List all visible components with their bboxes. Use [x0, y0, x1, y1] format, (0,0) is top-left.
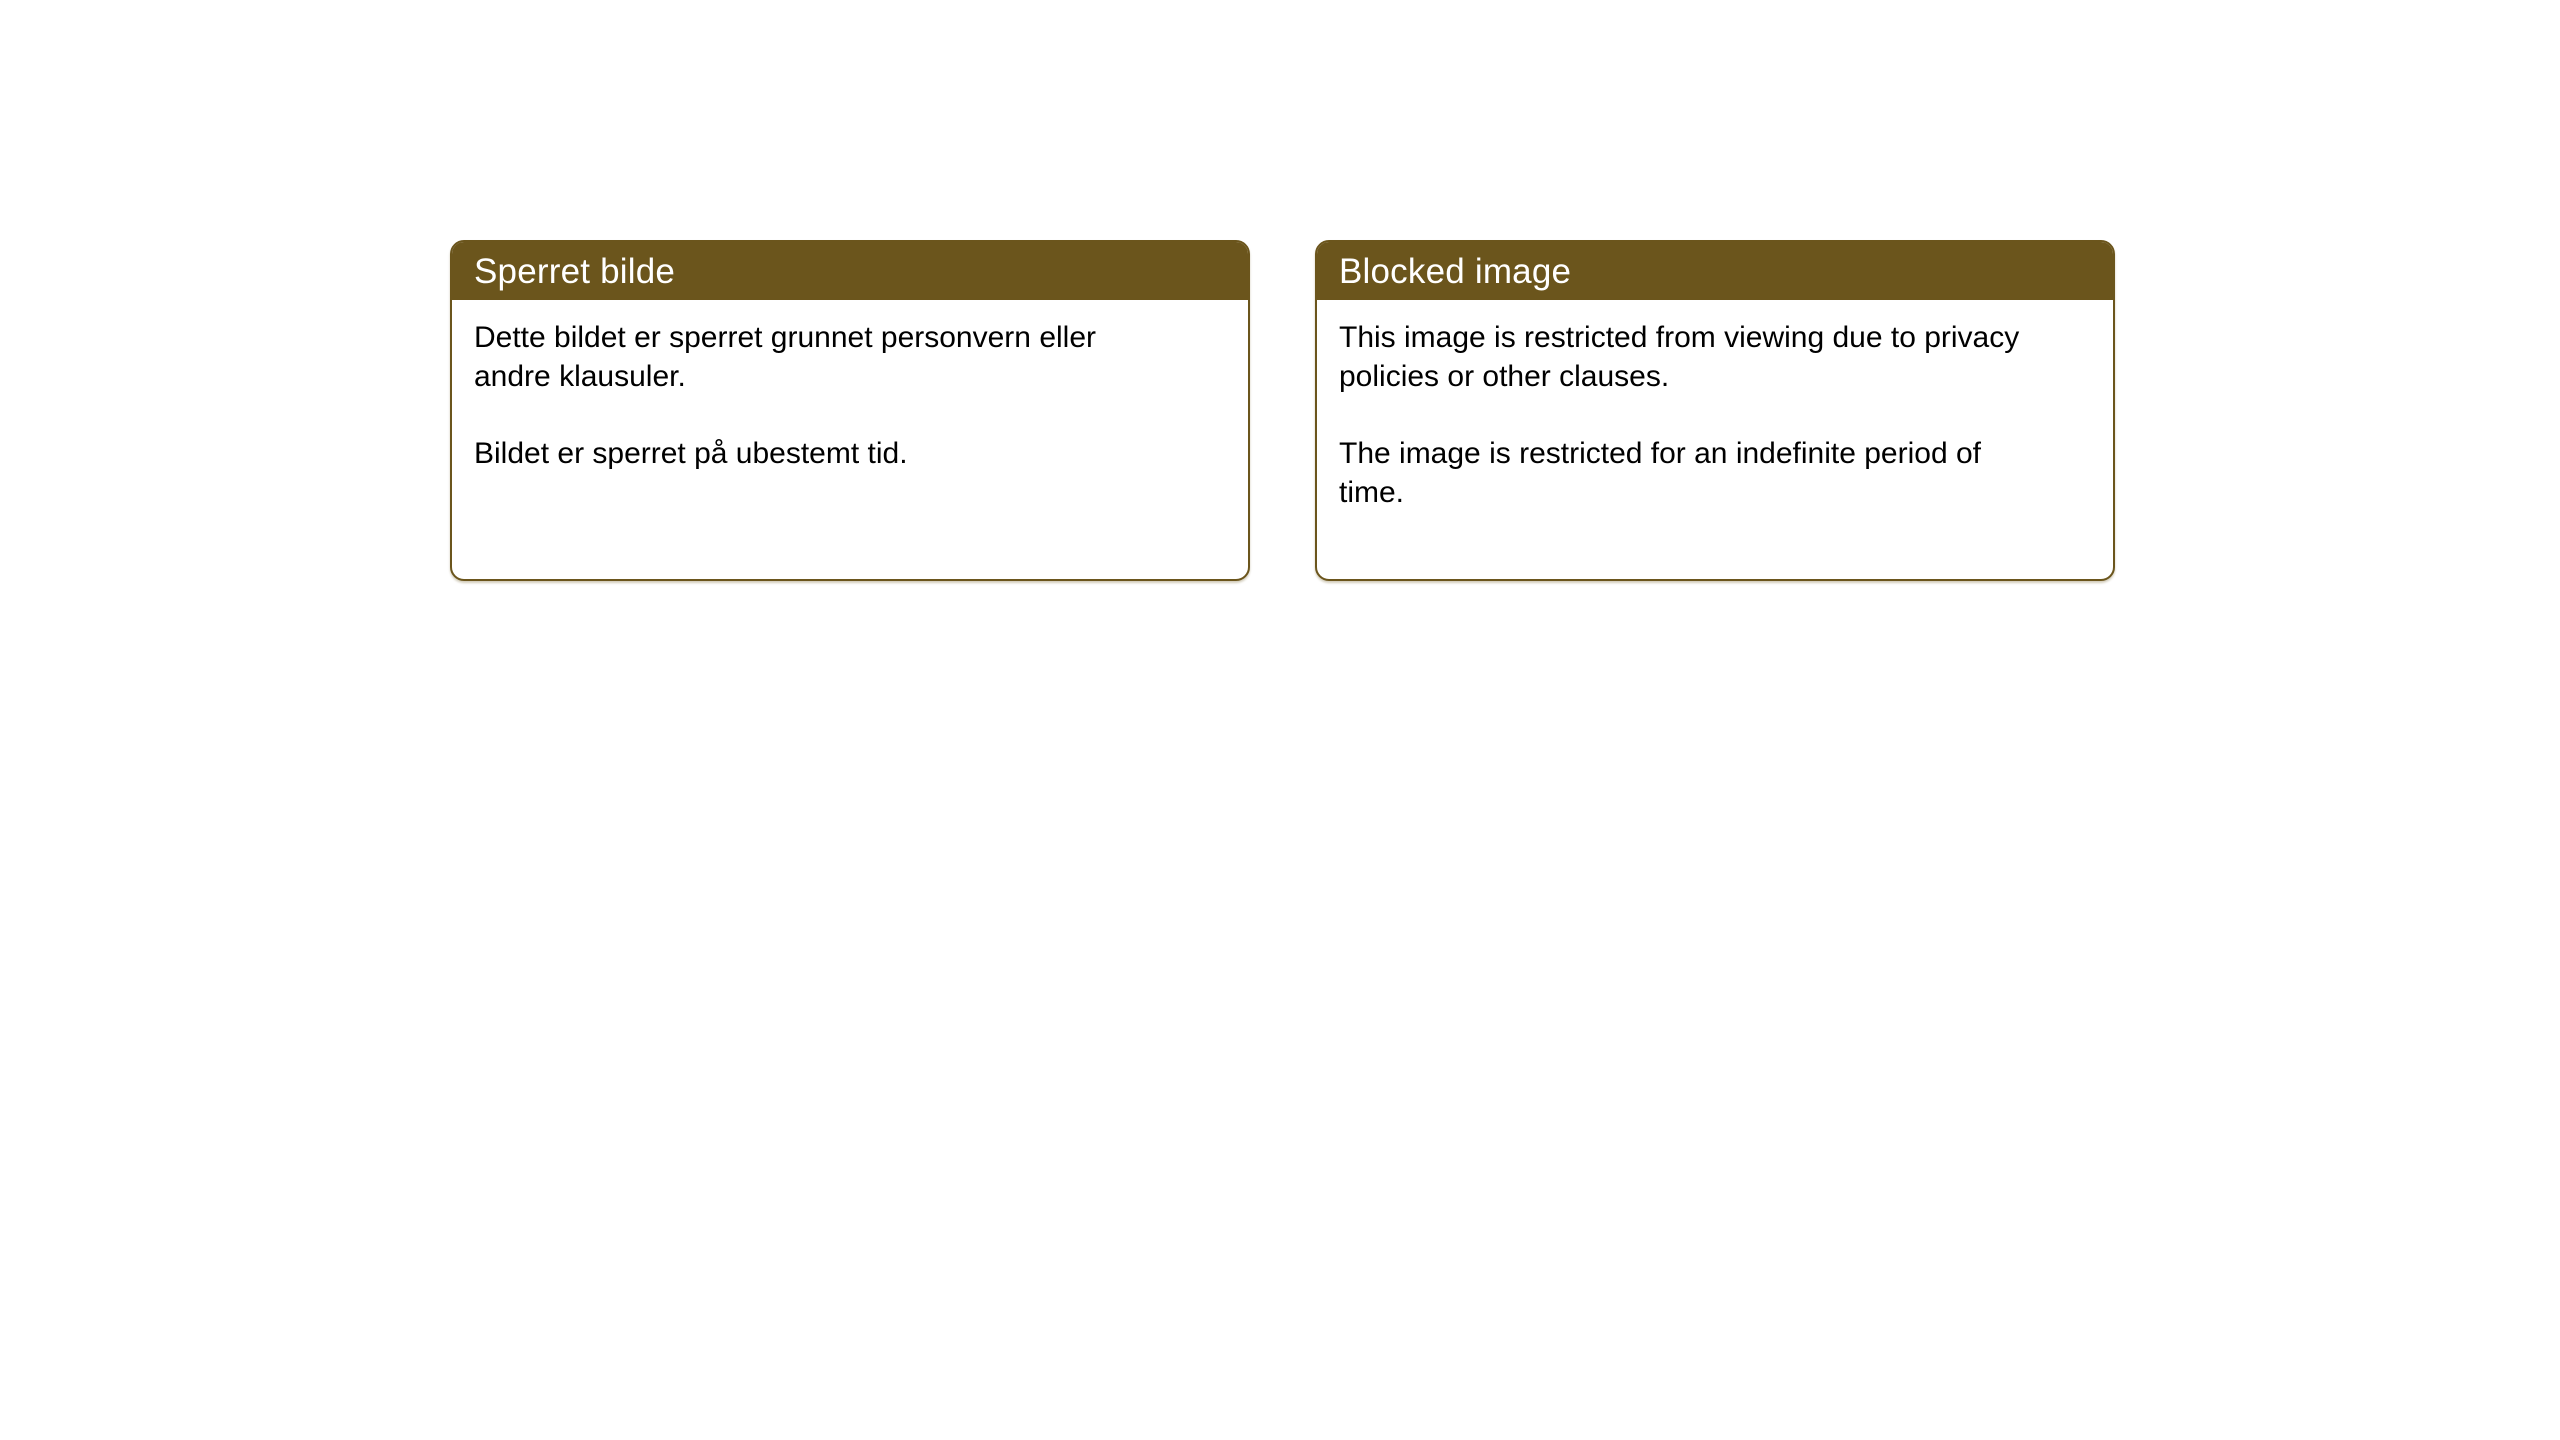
card-body-norwegian: Dette bildet er sperret grunnet personve…	[452, 300, 1248, 473]
card-title-english: Blocked image	[1339, 254, 1571, 289]
card-title-norwegian: Sperret bilde	[474, 254, 675, 289]
page-root: Sperret bilde Dette bildet er sperret gr…	[0, 0, 2560, 1440]
blocked-image-card-norwegian: Sperret bilde Dette bildet er sperret gr…	[450, 240, 1250, 581]
card-body-english: This image is restricted from viewing du…	[1317, 300, 2113, 512]
card-header-norwegian: Sperret bilde	[452, 242, 1248, 300]
card-paragraph-reason-english: This image is restricted from viewing du…	[1339, 318, 2039, 396]
paragraph-spacer	[474, 396, 1228, 434]
blocked-image-card-english: Blocked image This image is restricted f…	[1315, 240, 2115, 581]
card-header-english: Blocked image	[1317, 242, 2113, 300]
card-paragraph-reason-norwegian: Dette bildet er sperret grunnet personve…	[474, 318, 1174, 396]
paragraph-spacer	[1339, 396, 2093, 434]
card-paragraph-duration-norwegian: Bildet er sperret på ubestemt tid.	[474, 434, 1174, 473]
card-paragraph-duration-english: The image is restricted for an indefinit…	[1339, 434, 2039, 512]
